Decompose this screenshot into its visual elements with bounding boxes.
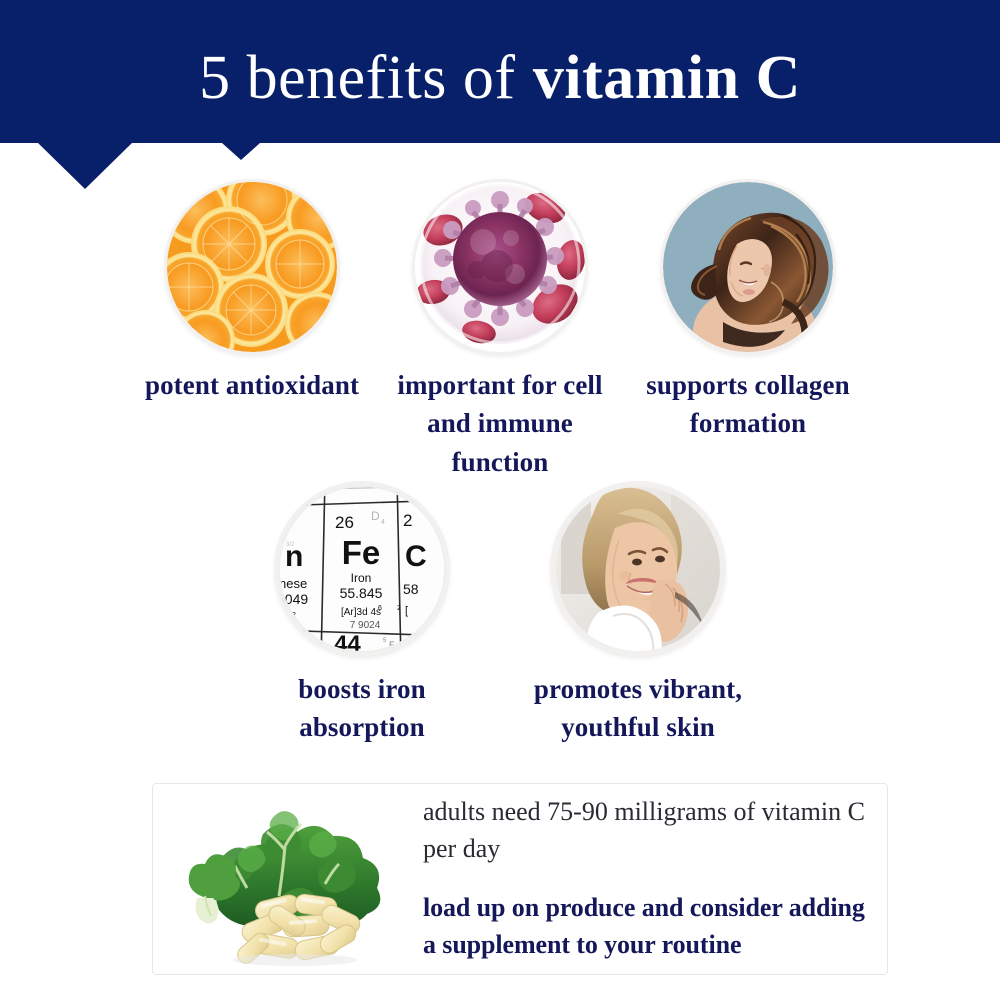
page-title: 5 benefits of vitamin C (0, 0, 1000, 143)
daily-intake-regular-line: adults need 75-90 milligrams of vitamin … (423, 794, 869, 868)
svg-text:55.845: 55.845 (340, 585, 383, 601)
infographic-page: 5 benefits of vitamin C (0, 0, 1000, 992)
svg-text:Fe: Fe (342, 534, 381, 571)
daily-intake-card: adults need 75-90 milligrams of vitamin … (152, 783, 888, 975)
benefit-item-collagen: supports collagen formation (632, 182, 864, 481)
benefit-label-immune: important for cell and immune function (384, 366, 616, 481)
woman-hair-icon (663, 182, 833, 352)
benefit-label-collagen: supports collagen formation (632, 366, 864, 443)
svg-text:3/2: 3/2 (286, 542, 295, 548)
svg-text:nese: nese (279, 576, 307, 591)
page-title-bold: vitamin C (533, 47, 801, 109)
svg-text:58: 58 (403, 581, 419, 597)
svg-text:6: 6 (378, 605, 382, 612)
benefit-label-skin: promotes vibrant, youthful skin (522, 670, 754, 747)
svg-text:Iron: Iron (351, 571, 372, 585)
svg-text:[Ar]3d 4s: [Ar]3d 4s (341, 607, 381, 618)
benefit-item-skin: promotes vibrant, youthful skin (522, 484, 754, 747)
page-title-light: 5 benefits of (199, 47, 515, 109)
header-banner: 5 benefits of vitamin C (0, 0, 1000, 143)
orange-slices-icon (167, 182, 337, 352)
leafy-greens-supplements-icon (167, 792, 417, 967)
benefits-row-2: 26 Fe Iron 55.845 [Ar]3d 4s 6 2 7 9024 n… (0, 484, 1000, 747)
benefit-label-antioxidant: potent antioxidant (145, 366, 359, 404)
benefits-row-1: potent antioxidant (0, 182, 1000, 481)
benefit-label-iron: boosts iron absorption (246, 670, 478, 747)
svg-text:4: 4 (381, 519, 385, 526)
benefit-item-iron: 26 Fe Iron 55.845 [Ar]3d 4s 6 2 7 9024 n… (246, 484, 478, 747)
periodic-table-iron-icon: 26 Fe Iron 55.845 [Ar]3d 4s 6 2 7 9024 n… (277, 484, 447, 654)
virus-cell-icon (415, 182, 585, 352)
svg-text:26: 26 (335, 513, 354, 532)
woman-skincare-icon (553, 484, 723, 654)
svg-text:2: 2 (403, 511, 412, 530)
svg-text:C: C (405, 540, 427, 573)
svg-text:2: 2 (397, 605, 401, 612)
svg-text:7 9024: 7 9024 (350, 620, 381, 631)
benefit-item-antioxidant: potent antioxidant (136, 182, 368, 481)
svg-text:D: D (371, 509, 380, 523)
daily-intake-text: adults need 75-90 milligrams of vitamin … (417, 794, 887, 964)
banner-notch-small (222, 143, 260, 160)
svg-text:[: [ (405, 605, 408, 617)
benefit-item-immune: important for cell and immune function (384, 182, 616, 481)
daily-intake-bold-line: load up on produce and consider adding a… (423, 890, 869, 964)
svg-text:s: s (285, 614, 290, 625)
